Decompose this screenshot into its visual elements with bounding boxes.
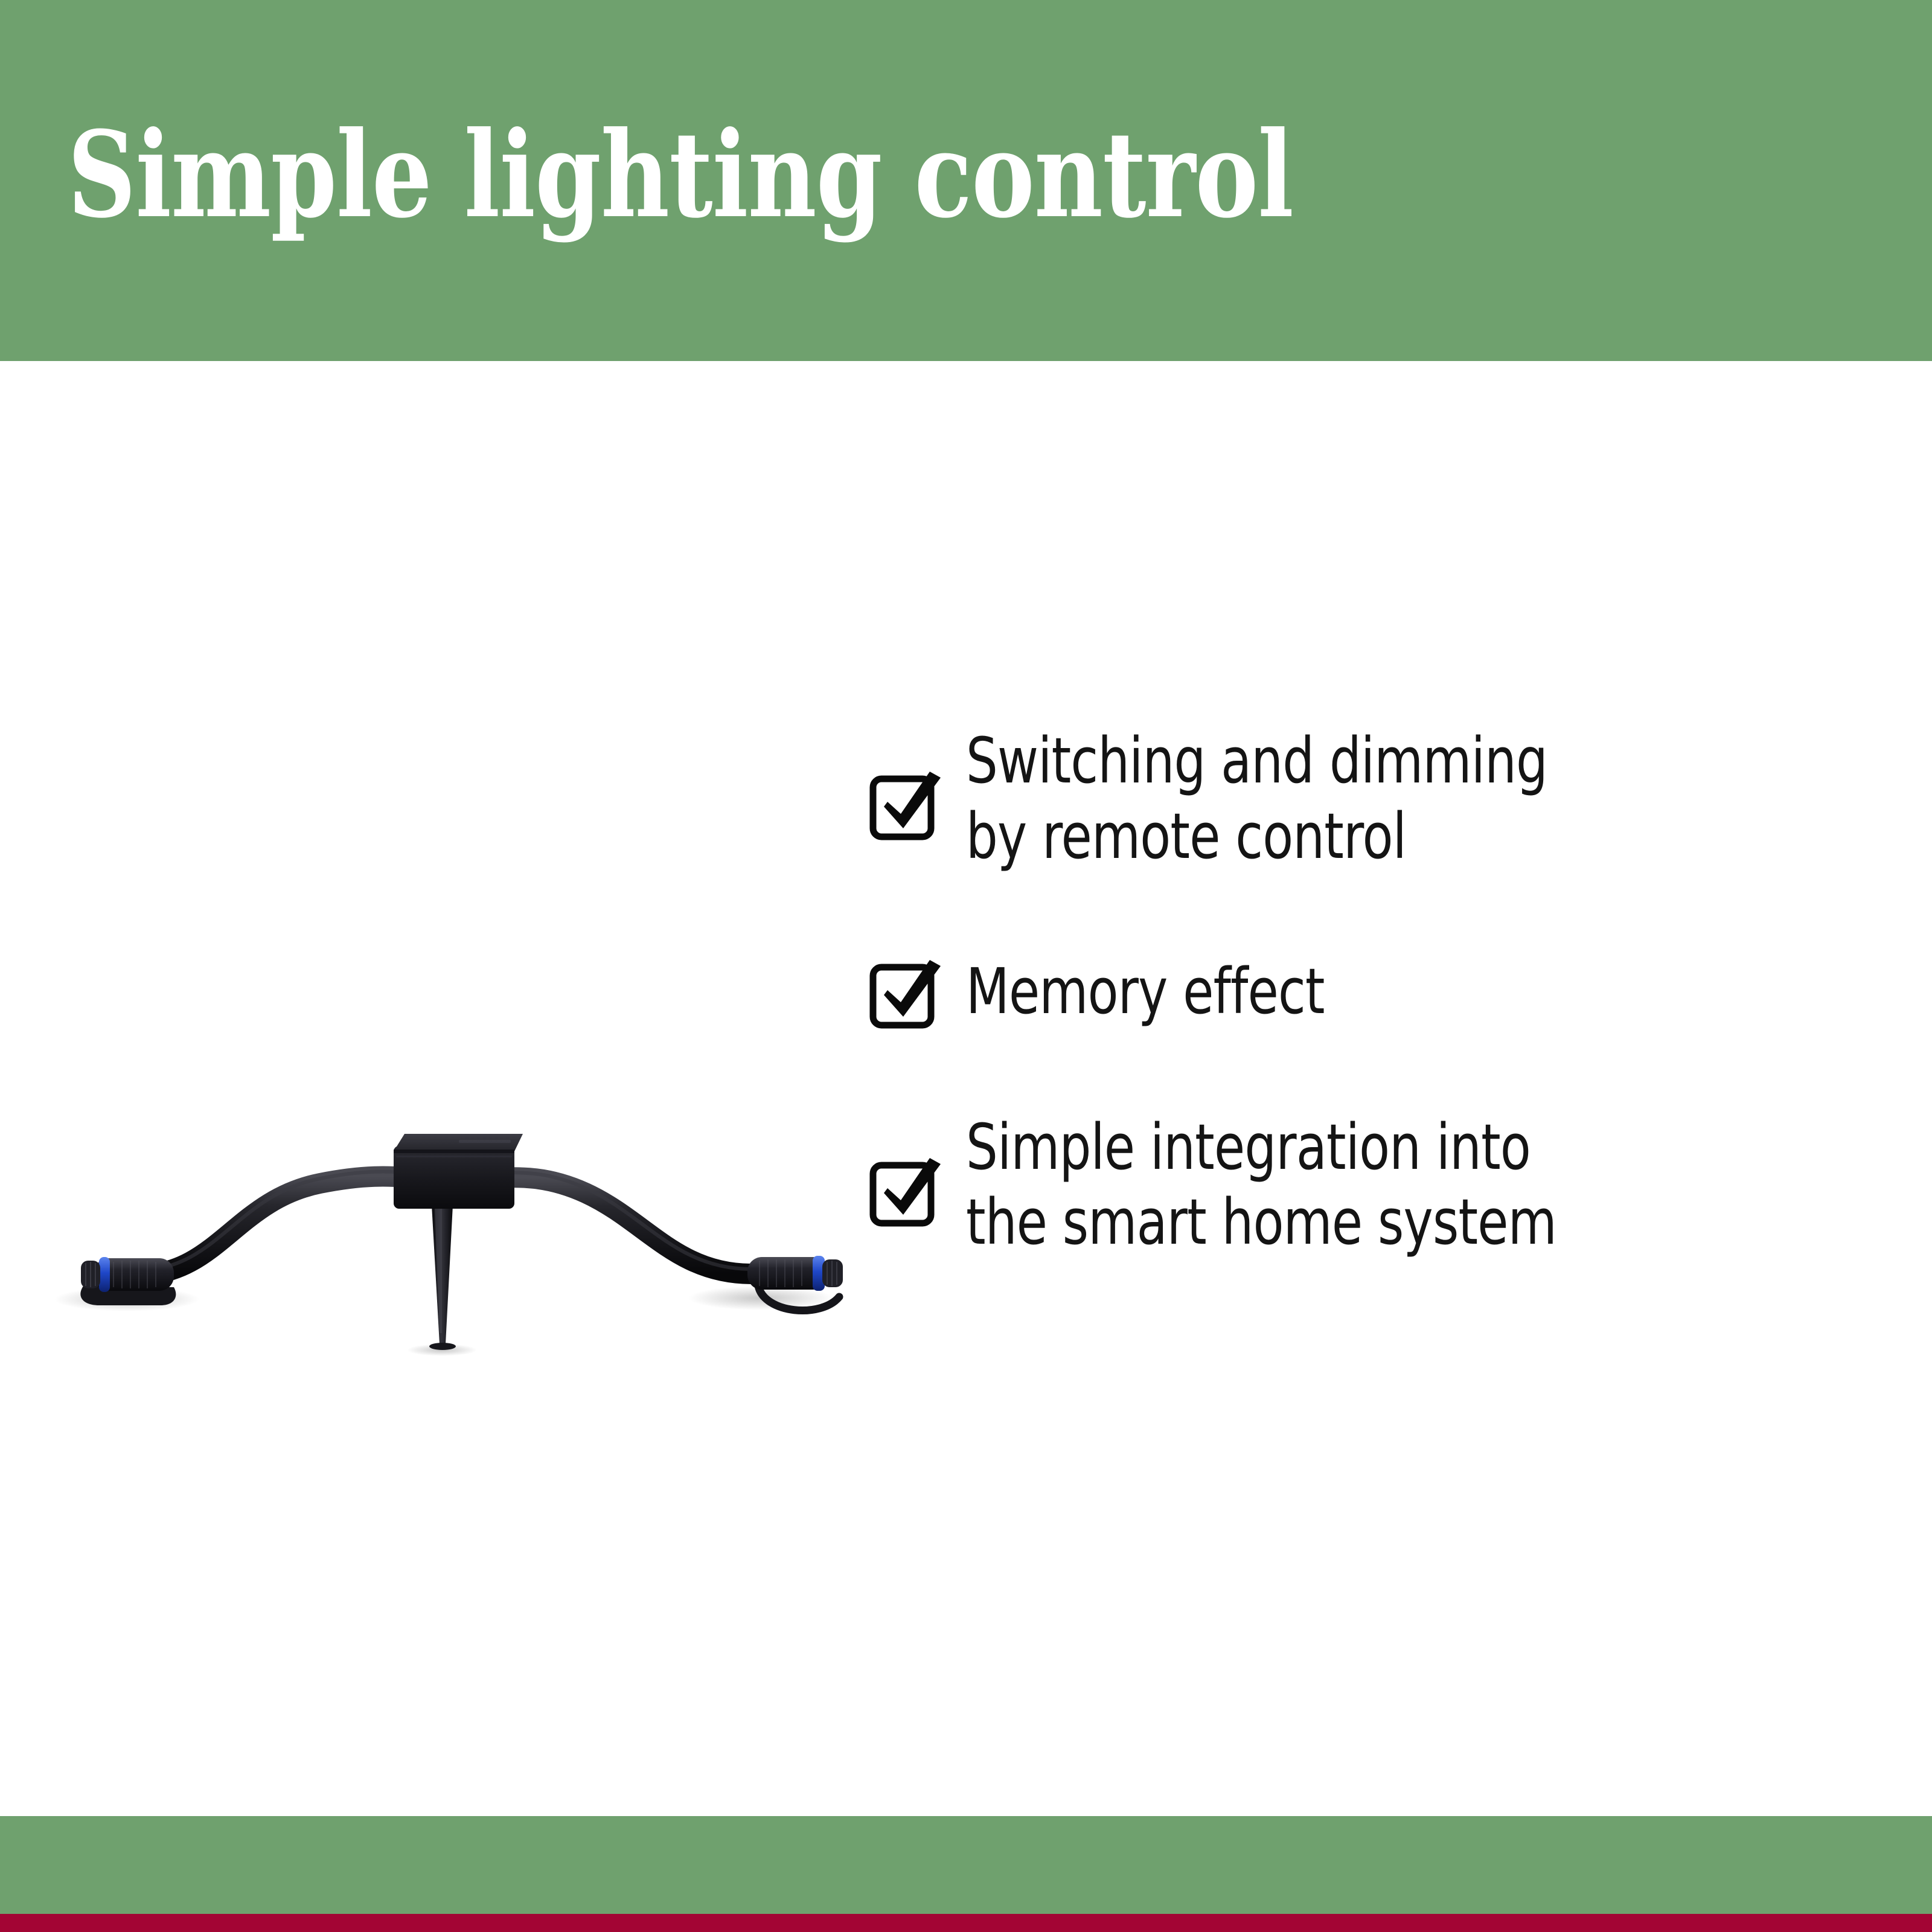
feature-item: Memory effect — [869, 954, 1872, 1030]
checkbox-checked-icon — [869, 1156, 942, 1228]
feature-item: Simple integration into the smart home s… — [869, 1110, 1872, 1261]
main-content-area: Switching and dimming by remote control … — [0, 361, 1932, 1816]
checkbox-checked-icon — [869, 769, 942, 842]
page-title: Simple lighting control — [68, 116, 1293, 234]
footer-green-band — [0, 1816, 1932, 1914]
feature-label: Memory effect — [966, 954, 1690, 1029]
feature-list: Switching and dimming by remote control … — [869, 723, 1872, 1260]
footer-red-band — [0, 1914, 1932, 1932]
product-image — [36, 1049, 869, 1424]
checkbox-checked-icon — [869, 958, 942, 1030]
feature-item: Switching and dimming by remote control — [869, 723, 1872, 874]
header-band: Simple lighting control — [0, 0, 1932, 361]
feature-label: Switching and dimming by remote control — [966, 723, 1690, 874]
feature-label: Simple integration into the smart home s… — [966, 1110, 1690, 1261]
